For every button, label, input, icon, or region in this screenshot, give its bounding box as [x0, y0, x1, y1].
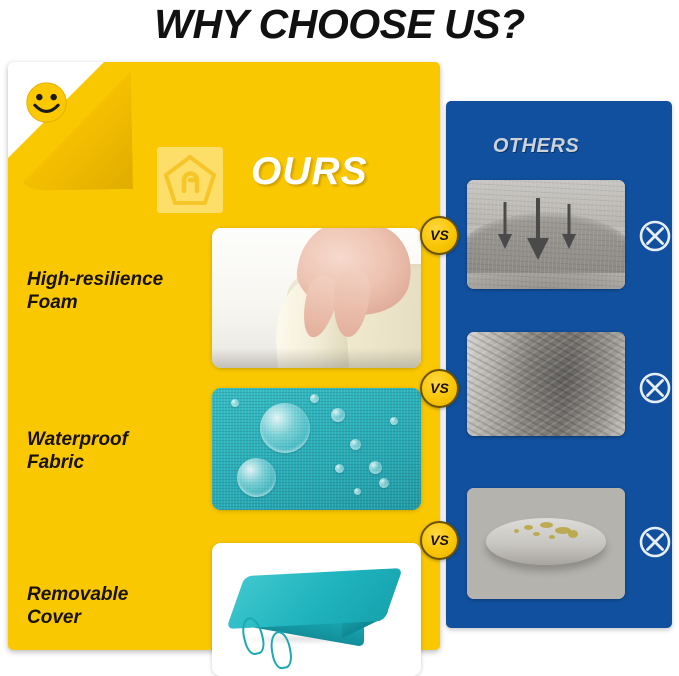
water-droplet	[331, 408, 345, 422]
x-circle-icon	[638, 219, 672, 253]
others-image-soaked-fabric	[467, 332, 625, 436]
water-droplet	[369, 461, 382, 474]
foam-texture-grain	[467, 180, 625, 289]
others-image-stained-cushion	[467, 488, 625, 599]
vs-badge: VS	[420, 521, 459, 560]
feature-label-removable-cover: Removable Cover	[27, 583, 205, 629]
page-title: WHY CHOOSE US?	[0, 0, 679, 52]
wet-fabric-texture	[467, 332, 625, 436]
ours-image-removable-cover	[212, 543, 421, 676]
vs-badge: VS	[420, 369, 459, 408]
water-droplet	[231, 399, 239, 407]
stain-spot	[549, 535, 555, 539]
smiley-face-icon	[25, 81, 68, 124]
water-droplet	[260, 403, 310, 453]
home-pentagon-logo-icon	[157, 147, 223, 213]
x-circle-icon	[638, 371, 672, 405]
ours-heading: OURS	[251, 150, 368, 194]
ours-image-waterproof-fabric	[212, 388, 421, 510]
vs-badge: VS	[420, 216, 459, 255]
ours-panel: OURS High-resilience Foam Waterproof Fab…	[8, 62, 440, 650]
others-image-sagging-foam	[467, 180, 625, 289]
x-circle-icon	[638, 525, 672, 559]
feature-label-high-resilience-foam: High-resilience Foam	[27, 268, 205, 314]
others-heading: OTHERS	[446, 135, 626, 158]
water-droplet	[237, 458, 276, 497]
feature-label-waterproof-fabric: Waterproof Fabric	[27, 428, 205, 474]
water-droplet	[335, 464, 344, 473]
water-droplet	[390, 417, 398, 425]
foam-drop-shadow	[212, 348, 421, 368]
ours-image-resilient-foam	[212, 228, 421, 368]
stain-spot	[524, 525, 533, 530]
